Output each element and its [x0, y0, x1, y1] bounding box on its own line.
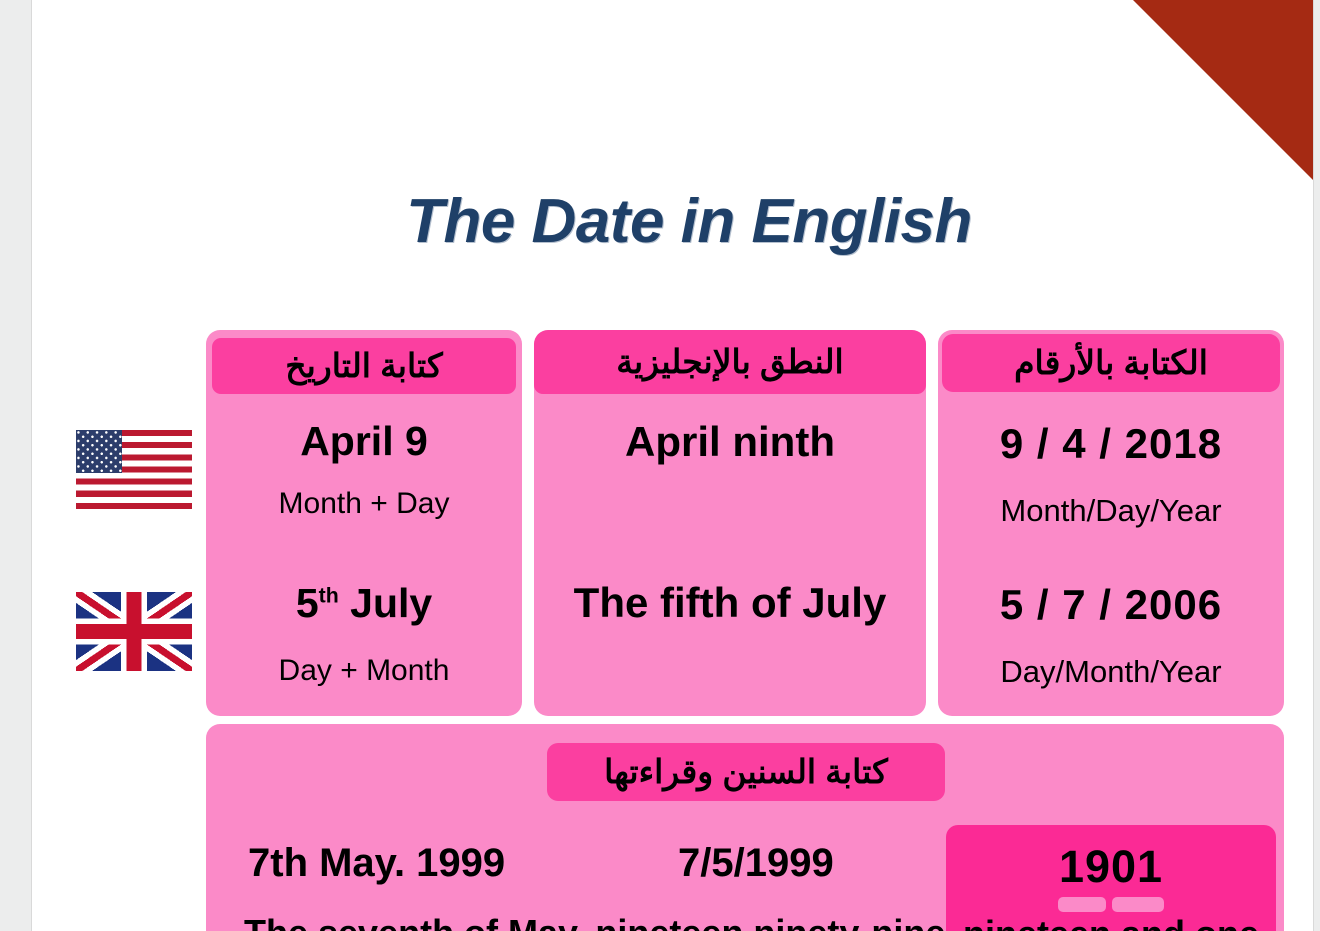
year-example-spoken: nineteen and one	[946, 913, 1276, 931]
writing-row2-month: July	[339, 580, 432, 626]
numbers-row1-main: 9 / 4 / 2018	[938, 420, 1284, 468]
year-example-underline-first-pair	[1058, 897, 1106, 912]
united-states-flag-icon	[76, 430, 192, 509]
numbers-row2-main: 5 / 7 / 2006	[938, 581, 1284, 629]
viewer-right-gutter	[1313, 0, 1320, 931]
pronounce-row1-main: April ninth	[534, 418, 926, 466]
card-date-writing: كتابة التاريخ April 9 Month + Day 5th Ju…	[206, 330, 522, 716]
writing-row2-ordinal-suffix: th	[319, 583, 339, 607]
numbers-row1-sub: Month/Day/Year	[938, 493, 1284, 529]
vertical-scrollbar[interactable]	[1299, 0, 1313, 931]
slide-page: The Date in English كتابة التاريخ April …	[31, 0, 1314, 931]
years-spoken-form: The seventh of May, nineteen ninety-nine	[244, 912, 945, 931]
writing-row2-sub: Day + Month	[206, 654, 522, 688]
years-written-form: 7th May. 1999	[248, 841, 505, 886]
years-numeric-form: 7/5/1999	[678, 841, 834, 886]
writing-row1-sub: Month + Day	[206, 487, 522, 521]
corner-accent-triangle	[1133, 0, 1313, 180]
numbers-row2-sub: Day/Month/Year	[938, 654, 1284, 690]
card-date-numeric: الكتابة بالأرقام 9 / 4 / 2018 Month/Day/…	[938, 330, 1284, 716]
united-kingdom-flag-icon	[76, 592, 192, 671]
writing-row1-main: April 9	[206, 418, 522, 465]
card-years: كتابة السنين وقراءتها 7th May. 1999 7/5/…	[206, 724, 1284, 931]
card-date-numeric-header: الكتابة بالأرقام	[942, 334, 1280, 392]
viewer-left-gutter	[0, 0, 31, 931]
writing-row2-main: 5th July	[206, 580, 522, 627]
year-example-underline-second-pair	[1112, 897, 1164, 912]
document-viewer[interactable]: The Date in English كتابة التاريخ April …	[0, 0, 1320, 931]
card-date-pronunciation-header: النطق بالإنجليزية	[534, 330, 926, 394]
uk-flag-cross-red	[76, 592, 192, 671]
year-example-box: 1901 nineteen and one	[946, 825, 1276, 931]
card-date-pronunciation: النطق بالإنجليزية April ninth The fifth …	[534, 330, 926, 716]
year-example-value: 1901	[946, 841, 1276, 893]
card-years-header: كتابة السنين وقراءتها	[547, 743, 945, 801]
us-flag-stars	[76, 430, 122, 473]
writing-row2-daynumber: 5	[296, 580, 319, 626]
card-date-writing-header: كتابة التاريخ	[212, 338, 516, 394]
pronounce-row2-main: The fifth of July	[534, 579, 926, 627]
page-title: The Date in English	[63, 186, 1314, 257]
us-flag-canton	[76, 430, 122, 473]
